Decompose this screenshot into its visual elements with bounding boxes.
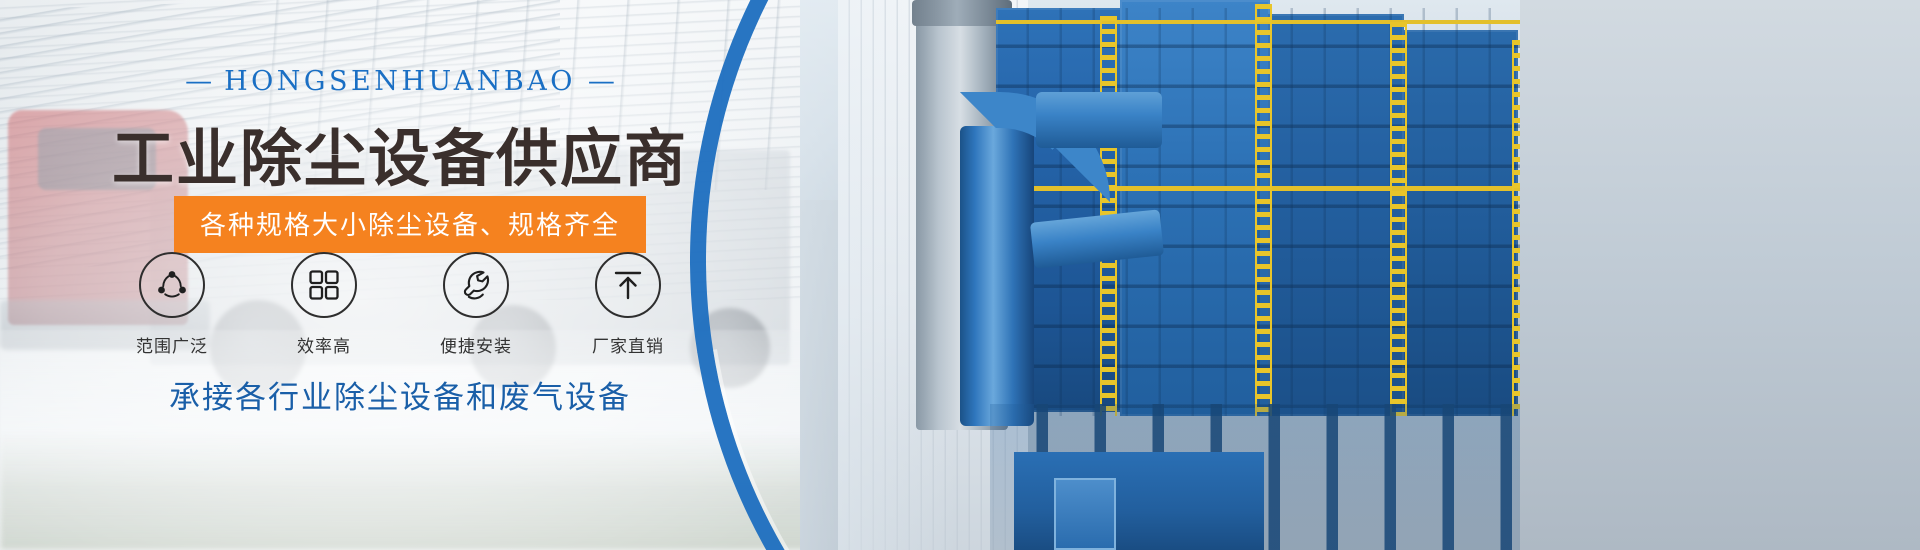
hero-banner: —HONGSENHUANBAO— 工业除尘设备供应商 各种规格大小除尘设备、规格… [0, 0, 1920, 550]
feature-item-direct-sale[interactable]: 厂家直销 [582, 252, 674, 357]
brand-pinyin: —HONGSENHUANBAO— [0, 66, 800, 97]
feature-item-efficiency[interactable]: 效率高 [278, 252, 370, 357]
wrench-icon [458, 267, 494, 303]
feature-icon-wrap [139, 252, 205, 318]
feature-list: 范围广泛 效率高 [0, 252, 800, 357]
feature-label: 厂家直销 [582, 332, 674, 357]
feature-item-install[interactable]: 便捷安装 [430, 252, 522, 357]
brand-pinyin-text: HONGSENHUANBAO [224, 66, 576, 97]
grid-four-squares-icon [308, 269, 340, 301]
feature-label: 便捷安装 [430, 332, 522, 357]
dash-left-decor: — [173, 66, 224, 97]
feature-icon-wrap [291, 252, 357, 318]
feature-icon-wrap [595, 252, 661, 318]
feature-label: 效率高 [278, 332, 370, 357]
hero-subbar: 各种规格大小除尘设备、规格齐全 [174, 196, 646, 253]
feature-label: 范围广泛 [126, 332, 218, 357]
hero-content: —HONGSENHUANBAO— 工业除尘设备供应商 各种规格大小除尘设备、规格… [0, 0, 820, 550]
hero-headline: 工业除尘设备供应商 [0, 108, 800, 198]
feature-item-range[interactable]: 范围广泛 [126, 252, 218, 357]
feature-icon-wrap [443, 252, 509, 318]
dash-right-decor: — [576, 66, 627, 97]
upload-arrow-icon [612, 269, 644, 301]
network-nodes-icon [155, 268, 189, 302]
hero-tagline: 承接各行业除尘设备和废气设备 [0, 372, 800, 417]
